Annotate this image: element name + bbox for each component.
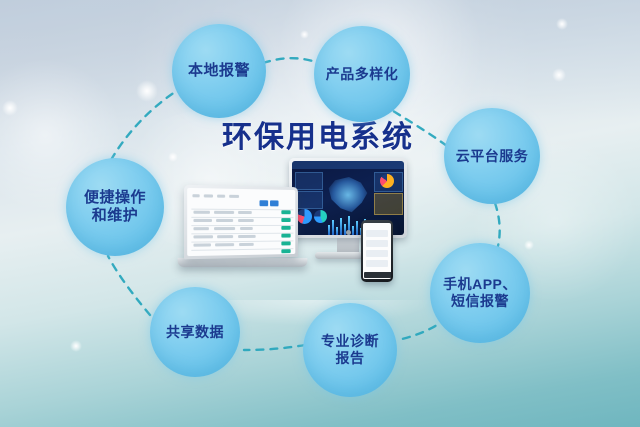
donut-chart-2 — [314, 210, 327, 223]
page-title: 环保用电系统 — [222, 112, 414, 156]
table-cell — [193, 211, 210, 214]
bar-chart-bar — [356, 221, 358, 235]
table-cell — [193, 227, 208, 230]
bar-chart-bar — [332, 220, 334, 235]
dashboard-panel-right2 — [374, 193, 403, 215]
monitor-logo-dot — [346, 230, 351, 235]
bubble-diagnosis-report[interactable]: 专业诊断 报告 — [303, 303, 397, 397]
status-badge — [281, 226, 290, 230]
table-cell — [238, 211, 252, 214]
bubble-label: 专业诊断 报告 — [321, 333, 379, 366]
bar-chart-bar — [328, 225, 330, 235]
bubble-label: 云平台服务 — [456, 148, 529, 165]
sparkle-8 — [168, 152, 178, 162]
status-badge — [281, 249, 290, 253]
message-item — [366, 260, 388, 267]
bar-chart-bar — [336, 227, 338, 235]
china-map-visual — [325, 177, 371, 217]
message-item — [366, 240, 388, 247]
table-cell — [193, 235, 213, 238]
dashboard-panel-left — [295, 172, 323, 190]
sparkle-6 — [70, 340, 82, 352]
dashboard-header — [292, 161, 404, 169]
sparkle-4 — [552, 68, 566, 82]
bubble-label: 共享数据 — [166, 324, 224, 341]
table-row — [191, 248, 293, 255]
table-header-cell — [204, 194, 213, 197]
table-cell — [238, 219, 254, 222]
sparkle-3 — [556, 18, 568, 30]
table-cell — [193, 243, 211, 246]
donut-chart-3 — [380, 174, 394, 188]
bubble-product-variety[interactable]: 产品多样化 — [314, 26, 410, 122]
bubble-app-sms-alarm[interactable]: 手机APP、 短信报警 — [430, 243, 530, 343]
status-badge — [281, 218, 290, 222]
smartphone — [361, 220, 393, 282]
sparkle-2 — [2, 100, 18, 116]
table-cell — [238, 235, 256, 238]
bubble-cloud-service[interactable]: 云平台服务 — [444, 108, 540, 204]
laptop-screen — [187, 188, 295, 256]
bubble-label: 手机APP、 短信报警 — [443, 276, 517, 309]
table-cell — [217, 235, 233, 238]
table-cell — [214, 227, 235, 230]
table-cell — [215, 243, 234, 246]
bubble-label: 本地报警 — [188, 62, 250, 80]
sparkle-7 — [300, 30, 309, 39]
laptop — [184, 185, 298, 260]
dashboard-panel-left2 — [295, 191, 323, 209]
table-header-cell — [229, 195, 239, 198]
table-cell — [214, 211, 234, 214]
sparkle-5 — [524, 240, 534, 250]
table-cell — [216, 219, 233, 222]
bubble-local-alarm[interactable]: 本地报警 — [172, 24, 266, 118]
donut-chart-1 — [297, 209, 312, 224]
table-cell — [193, 219, 212, 222]
bar-chart-bar — [340, 218, 342, 235]
status-badge — [281, 241, 290, 245]
status-badge — [281, 210, 290, 214]
bubble-label: 产品多样化 — [326, 66, 399, 83]
message-item — [366, 250, 388, 257]
table-header-cell — [192, 194, 199, 197]
table-cell — [239, 243, 254, 246]
sparkle-1 — [136, 80, 158, 102]
message-item — [366, 230, 388, 237]
phone-keyboard — [364, 272, 391, 278]
bar-chart-bar — [352, 226, 354, 235]
phone-screen — [363, 223, 391, 279]
bubble-shared-data[interactable]: 共享数据 — [150, 287, 240, 377]
bubble-label: 便捷操作 和维护 — [84, 189, 146, 224]
bubble-easy-operation[interactable]: 便捷操作 和维护 — [66, 158, 164, 256]
poster-canvas: 环保用电系统 本地报警产品多样化云平台服务手机APP、 短信报警专业诊断 报告共… — [0, 0, 640, 427]
status-badge — [281, 234, 290, 238]
table-header-cell — [217, 195, 225, 198]
table-cell — [240, 227, 253, 230]
monitor-stand-neck — [337, 238, 359, 252]
table-toolbar-button — [270, 200, 279, 206]
device-group — [185, 158, 435, 313]
table-toolbar-button — [260, 200, 269, 206]
laptop-base — [178, 258, 308, 267]
